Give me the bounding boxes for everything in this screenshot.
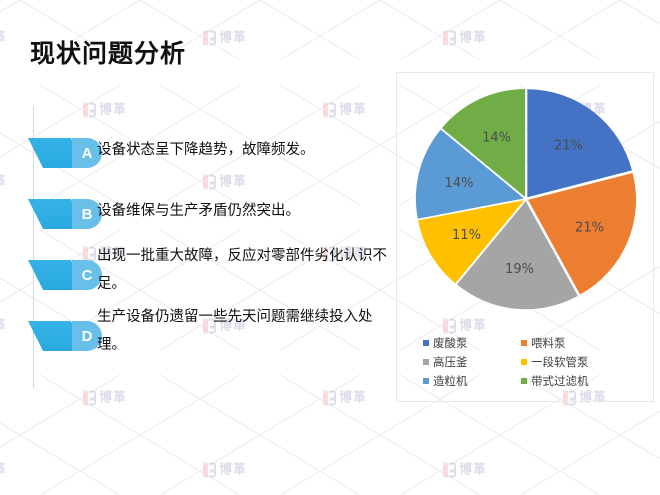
slide-canvas: 博革博革博革博革博革博革博革博革博革博革博革博革博革博革博革博革博革博革博革博革… bbox=[0, 0, 660, 495]
watermark-text: 博革 bbox=[219, 32, 247, 45]
bullet-text: 生产设备仍遗留一些先天问题需继续投入处理。 bbox=[97, 303, 387, 359]
legend-item[interactable]: 一段软管泵 bbox=[521, 354, 639, 370]
bullet-text: 出现一批重大故障，反应对零部件劣化认识不足。 bbox=[97, 242, 387, 298]
pie-slice-label: 21% bbox=[554, 138, 583, 153]
bogre-logo-icon bbox=[443, 463, 456, 478]
legend-swatch bbox=[521, 359, 527, 365]
bogre-logo-icon bbox=[443, 31, 456, 46]
legend-label: 废酸泵 bbox=[433, 335, 468, 351]
watermark-text: 博革 bbox=[0, 32, 7, 45]
pie-chart[interactable]: 21%21%19%11%14%14% bbox=[397, 77, 655, 325]
legend-item[interactable]: 高压釜 bbox=[423, 354, 521, 370]
watermark: 博革 bbox=[443, 31, 487, 46]
legend-label: 一段软管泵 bbox=[531, 354, 589, 370]
bullet-badge-letter: D bbox=[82, 329, 93, 344]
legend-item[interactable]: 带式过滤机 bbox=[521, 373, 639, 389]
watermark-text: 博革 bbox=[459, 32, 487, 45]
watermark-text: 博革 bbox=[459, 464, 487, 477]
legend-swatch bbox=[423, 340, 429, 346]
legend-swatch bbox=[521, 378, 527, 384]
watermark: 博革 bbox=[0, 463, 7, 478]
pie-slice-label: 21% bbox=[575, 221, 604, 236]
pie-slice-label: 19% bbox=[505, 262, 534, 277]
bullet-badge-letter: C bbox=[82, 268, 93, 283]
watermark: 博革 bbox=[0, 31, 7, 46]
pie-chart-svg[interactable]: 21%21%19%11%14%14% bbox=[411, 77, 641, 321]
legend-swatch bbox=[521, 340, 527, 346]
legend-swatch bbox=[423, 378, 429, 384]
watermark-text: 博革 bbox=[219, 464, 247, 477]
legend-label: 造粒机 bbox=[433, 373, 468, 389]
chart-panel[interactable]: 21%21%19%11%14%14% 废酸泵喂料泵高压釜一段软管泵造粒机带式过滤… bbox=[396, 72, 654, 402]
bullet-badge-letter: B bbox=[82, 207, 93, 222]
chart-legend[interactable]: 废酸泵喂料泵高压釜一段软管泵造粒机带式过滤机 bbox=[423, 335, 643, 389]
watermark: 博革 bbox=[203, 463, 247, 478]
pie-slice-label: 14% bbox=[445, 176, 474, 191]
watermark: 博革 bbox=[203, 31, 247, 46]
pie-slice-label: 14% bbox=[482, 130, 511, 145]
watermark-text: 博革 bbox=[0, 464, 7, 477]
legend-label: 高压釜 bbox=[433, 354, 468, 370]
bullet-list: A 设备状态呈下降趋势，故障频发。 B 设备维保与生产矛盾仍然突出。 C 出现一… bbox=[0, 98, 395, 398]
watermark: 博革 bbox=[443, 463, 487, 478]
bogre-logo-icon bbox=[203, 31, 216, 46]
legend-label: 带式过滤机 bbox=[531, 373, 589, 389]
legend-item[interactable]: 造粒机 bbox=[423, 373, 521, 389]
pie-slice-label: 11% bbox=[452, 228, 481, 243]
bogre-logo-icon bbox=[203, 463, 216, 478]
bullet-text: 设备维保与生产矛盾仍然突出。 bbox=[97, 197, 387, 225]
legend-item[interactable]: 喂料泵 bbox=[521, 335, 639, 351]
legend-swatch bbox=[423, 359, 429, 365]
bullet-badge-letter: A bbox=[82, 146, 93, 161]
bullet-text: 设备状态呈下降趋势，故障频发。 bbox=[97, 136, 387, 164]
legend-label: 喂料泵 bbox=[531, 335, 566, 351]
legend-item[interactable]: 废酸泵 bbox=[423, 335, 521, 351]
page-title: 现状问题分析 bbox=[30, 34, 186, 70]
